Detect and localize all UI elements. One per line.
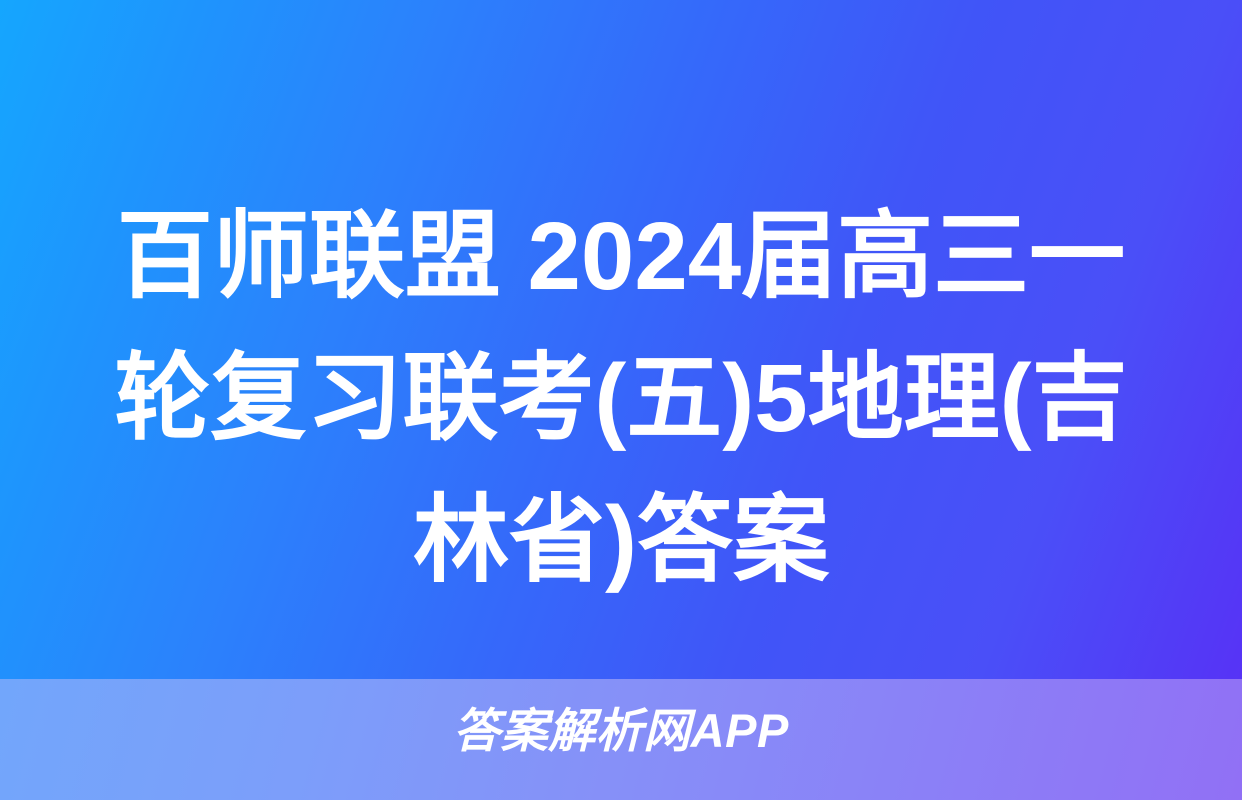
title-line-2: 轮复习联考(五)5地理(吉	[62, 328, 1180, 470]
title-line-1: 百师联盟 2024届高三一	[62, 186, 1180, 328]
title-line-3: 林省)答案	[62, 470, 1180, 612]
page-title: 百师联盟 2024届高三一 轮复习联考(五)5地理(吉 林省)答案	[0, 186, 1242, 612]
promo-card: 百师联盟 2024届高三一 轮复习联考(五)5地理(吉 林省)答案 答案解析网A…	[0, 0, 1242, 800]
watermark-text: 答案解析网APP	[453, 703, 789, 759]
watermark: 答案解析网APP	[0, 703, 1242, 759]
